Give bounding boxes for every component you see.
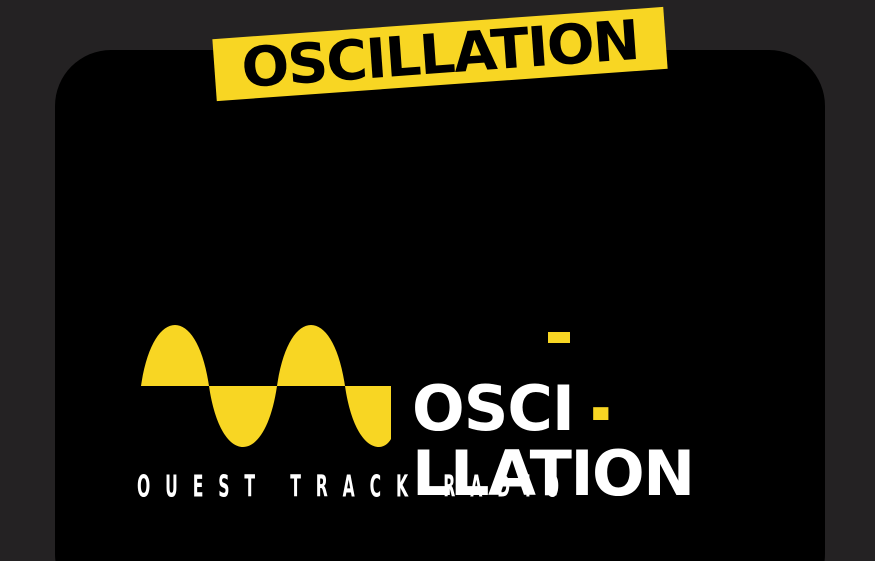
poster-stage: OSCI- LLATION OUEST TRACK RADIO OSCILLAT…: [0, 0, 875, 561]
sine-wave-path: [137, 325, 391, 447]
tagline: OUEST TRACK RADIO: [137, 472, 574, 502]
accent-dash-icon: [548, 332, 570, 343]
logo-card: OSCI- LLATION OUEST TRACK RADIO: [55, 50, 825, 561]
logo-lockup: OSCI- LLATION OUEST TRACK RADIO: [55, 50, 825, 561]
wordmark-line-1: OSCI-: [412, 378, 613, 440]
wordmark-line-1-text: OSCI: [412, 372, 574, 445]
sine-wave-svg: [137, 325, 391, 447]
sine-wave-mark: [137, 325, 391, 447]
